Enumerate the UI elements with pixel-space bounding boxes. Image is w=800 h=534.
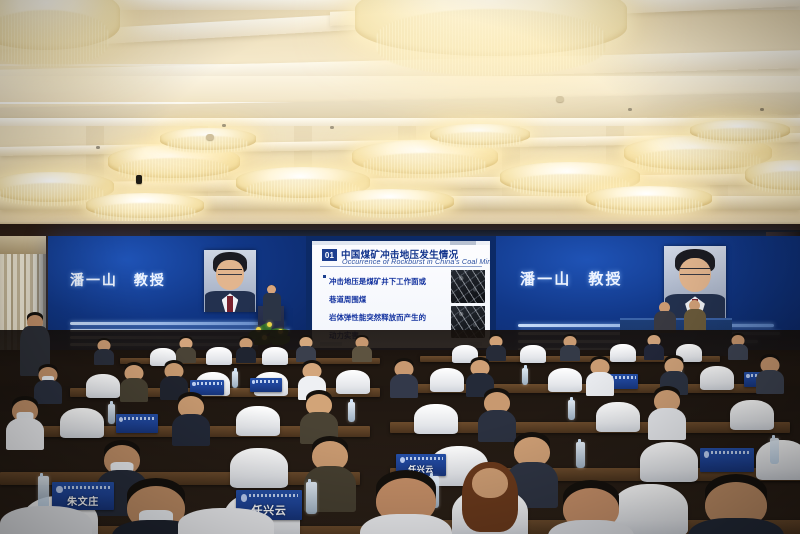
audience-person [728, 333, 748, 359]
ceiling [0, 0, 800, 228]
chandelier-icon [586, 186, 712, 211]
audience-person [172, 392, 210, 444]
slide-number-badge: 01 [322, 249, 337, 261]
head-table-person-2 [684, 300, 706, 332]
water-bottle [522, 368, 528, 385]
audience-person [6, 396, 44, 448]
slide-photo-mine-support [451, 270, 485, 303]
audience-person [648, 386, 686, 438]
audience-person [390, 358, 418, 396]
bullet-marker-icon [323, 275, 326, 278]
water-bottle [568, 400, 575, 420]
name-placard [700, 448, 754, 472]
audience-person [756, 354, 784, 392]
chandelier-icon [355, 0, 627, 56]
chandelier-icon [86, 193, 204, 218]
speaker-name-left: 潘一山 教授 [70, 270, 166, 290]
water-bottle [770, 438, 779, 464]
name-placard [116, 414, 158, 433]
slide-photo-column [451, 270, 485, 338]
bullet-cn-line-1: 冲击地压是煤矿井下工作面或巷道周围煤 [329, 277, 426, 304]
speaker-portrait-left [204, 250, 256, 312]
name-placard [250, 378, 282, 392]
head-table-person-1 [654, 302, 676, 332]
slide-top-bar [312, 241, 490, 245]
audience-person [296, 335, 316, 361]
audience-person-foreground [548, 480, 634, 534]
audience-person [300, 390, 338, 442]
audience-person [352, 335, 372, 361]
audience-person-foreground [448, 462, 532, 534]
audience-person [94, 338, 114, 364]
audience-person-foreground [0, 506, 92, 534]
water-bottle [306, 482, 317, 514]
audience-person [586, 356, 614, 394]
audience-person [120, 362, 148, 400]
audience-person [176, 336, 196, 362]
audience-person-foreground [178, 508, 274, 534]
standing-presenter [263, 285, 281, 321]
slide-title-en: Occurrence of Rockburst in China's Coal … [342, 257, 490, 266]
audience-person-foreground [688, 474, 784, 534]
audience-person [236, 336, 256, 362]
conference-hall-photo: 潘一山 教授 01 中国煤矿冲击地压发生情况 Occurrence of Roc… [0, 0, 800, 534]
audience-person-foreground [360, 470, 452, 534]
chandelier-icon [330, 189, 454, 214]
water-bottle [38, 476, 49, 508]
water-bottle [232, 371, 238, 388]
chandelier-icon [430, 124, 530, 145]
slide-title-divider [320, 266, 482, 267]
water-bottle [348, 402, 355, 422]
water-bottle [576, 442, 585, 468]
audience-area: 任兴云 朱 [0, 330, 800, 534]
audience-person [560, 334, 580, 360]
chandelier-icon [690, 120, 790, 141]
chandelier-icon [0, 0, 120, 50]
speaker-name-right: 潘一山 教授 [520, 268, 623, 289]
water-bottle [108, 404, 115, 424]
chandelier-icon [745, 160, 800, 190]
